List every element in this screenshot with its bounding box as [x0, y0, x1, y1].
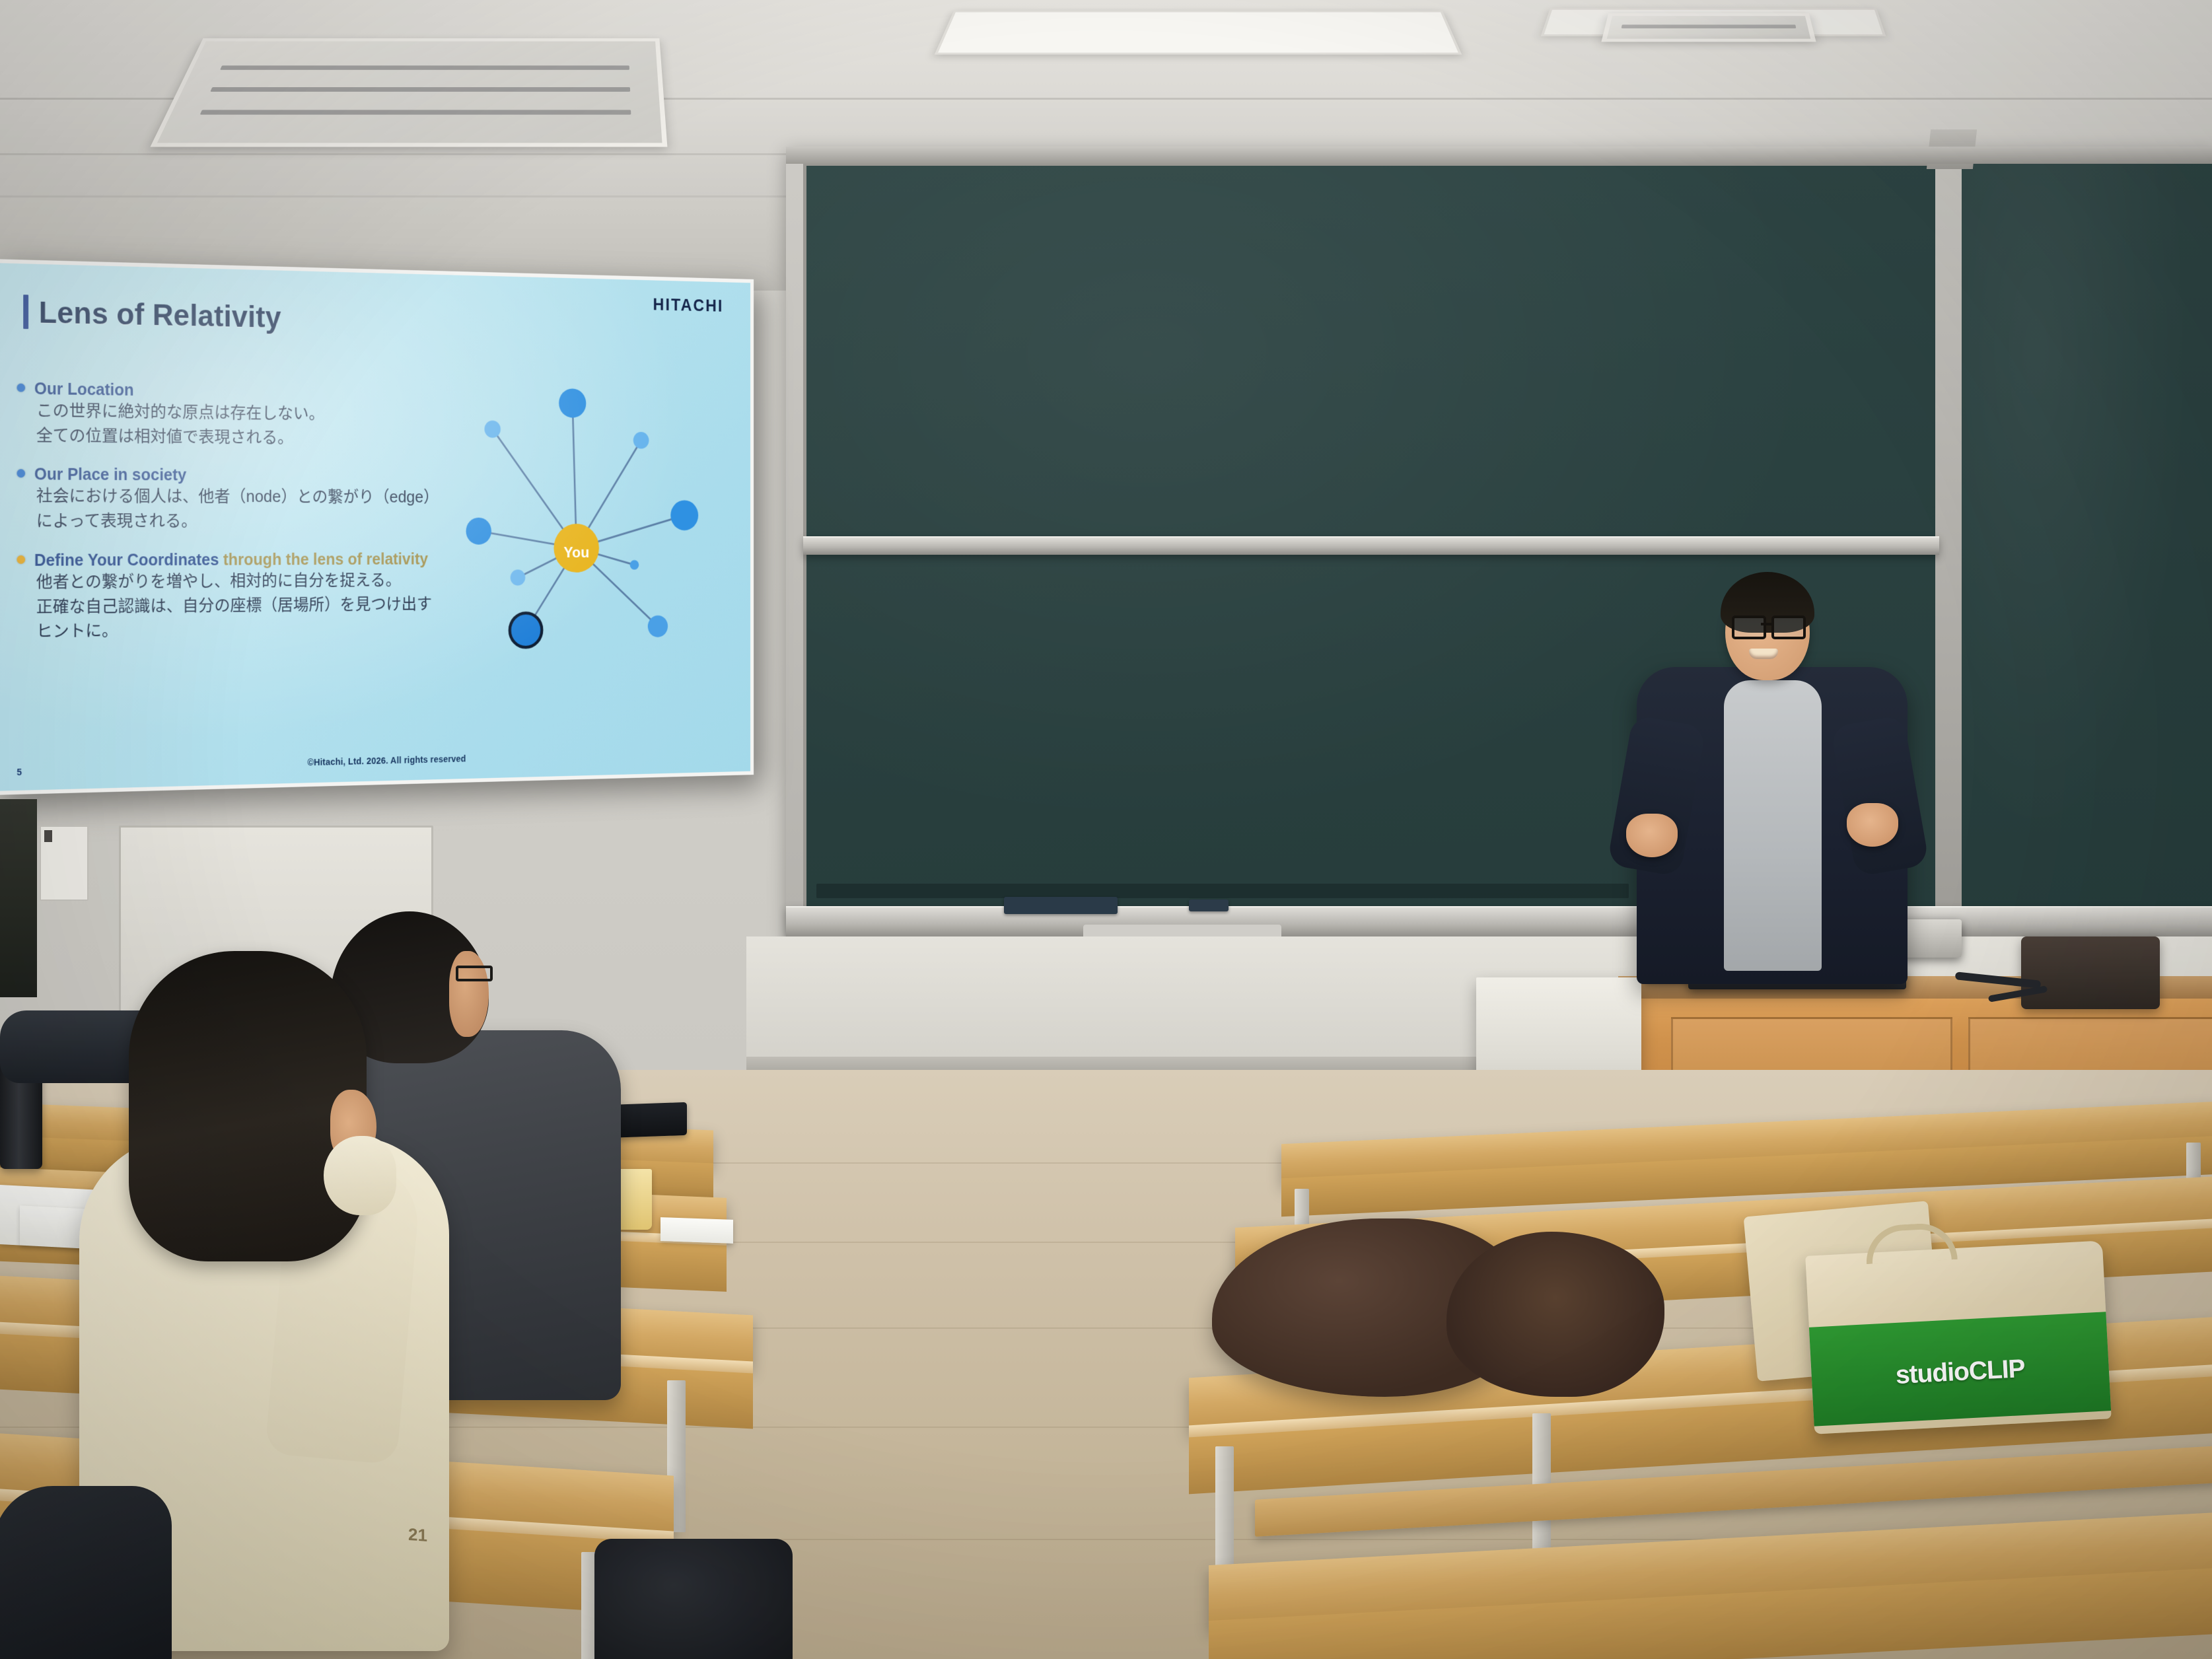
bullet-heading: Define Your Coordinates through the lens…	[34, 550, 428, 570]
glasses-icon	[1732, 616, 1806, 635]
blackboard-mid-rail	[803, 536, 1939, 555]
bullet-item: Define Your Coordinates through the lens…	[17, 550, 445, 645]
blackboard-top-rail	[786, 147, 2212, 164]
wall-switch-box[interactable]	[40, 826, 89, 901]
bullet-body-line: によって表現される。	[36, 509, 445, 534]
bullet-dot-icon	[17, 384, 25, 392]
node-inner-right	[630, 560, 639, 570]
bullet-body-line: 正確な自己認識は、自分の座標（居場所）を見つけ出すヒントに。	[36, 592, 445, 645]
node-lower-left	[511, 569, 526, 585]
slide-title: Lens of Relativity	[39, 295, 281, 335]
bullet-item: Our Location この世界に絶対的な原点は存在しない。 全ての位置は相対…	[17, 380, 445, 452]
node-top	[559, 388, 586, 418]
network-diagram-svg: You	[456, 370, 727, 660]
bullet-body-line: 全ての位置は相対値で表現される。	[36, 423, 445, 451]
bullet-body-line: この世界に絶対的な原点は存在しない。	[36, 399, 445, 428]
presenter-right-hand	[1847, 803, 1898, 847]
air-conditioner-vent	[150, 38, 667, 147]
node-upper-left	[484, 421, 500, 438]
blackboard-divider	[1935, 151, 1962, 930]
attendee-back-glasses-icon	[456, 966, 493, 981]
bullet-dot-icon	[17, 555, 25, 564]
slide-copyright: ©Hitachi, Ltd. 2026. All rights reserved	[0, 747, 750, 775]
presenter-shirt	[1724, 680, 1822, 971]
air-vent-secondary	[1601, 13, 1816, 42]
node-upper-right	[633, 432, 649, 449]
slide-bullet-list: Our Location この世界に絶対的な原点は存在しない。 全ての位置は相対…	[17, 380, 445, 662]
chalkboard-eraser	[1004, 897, 1118, 914]
network-diagram: You	[456, 370, 727, 660]
node-right	[670, 500, 698, 530]
chalk-tray	[786, 906, 2212, 938]
backpack	[594, 1539, 793, 1659]
chalk-piece	[1189, 900, 1229, 911]
lecture-hall-photo: HITACHI Lens of Relativity Our Location …	[0, 0, 2212, 1659]
presenter-chair	[2021, 936, 2160, 1009]
blackboard-right-panel	[1955, 157, 2212, 930]
desk-number-decal: 21	[408, 1524, 448, 1553]
bullet-heading: Our Location	[34, 380, 134, 400]
bullet-body-line: 社会における個人は、他者（node）との繋がり（edge）	[36, 485, 445, 511]
projection-screen: HITACHI Lens of Relativity Our Location …	[0, 259, 754, 795]
attendee-partial-foreground	[0, 1486, 172, 1659]
node-bottom-right	[648, 616, 668, 637]
attendee-front-hand	[324, 1136, 396, 1215]
attendee-back-ear	[449, 951, 489, 1037]
slide-title-group: Lens of Relativity	[23, 294, 281, 335]
shopping-bag: studioCLIP	[1805, 1240, 2112, 1434]
hitachi-logo: HITACHI	[653, 295, 724, 316]
presenter-left-hand	[1626, 814, 1678, 857]
bullet-body-line: 他者との繋がりを増やし、相対的に自分を捉える。	[36, 569, 445, 595]
bullet-dot-icon	[17, 470, 25, 478]
node-left	[466, 518, 491, 545]
node-center-label: You	[563, 544, 589, 561]
snack-wrapper	[660, 1217, 733, 1244]
attendee-front-hair	[129, 951, 367, 1261]
network-edges	[479, 402, 685, 631]
brown-coat-secondary	[1446, 1232, 1664, 1397]
wall-dark-edge	[0, 799, 37, 997]
node-bottom-left	[510, 613, 542, 647]
bullet-heading: Our Place in society	[34, 466, 186, 485]
title-accent-bar	[23, 295, 28, 329]
network-nodes	[466, 387, 698, 648]
presentation-slide: HITACHI Lens of Relativity Our Location …	[0, 263, 750, 791]
ceiling-light-panel	[935, 11, 1462, 55]
bullet-item: Our Place in society 社会における個人は、他者（node）と…	[17, 466, 445, 534]
blackboard-lower-slot	[816, 884, 1629, 898]
presenter-mouth	[1749, 649, 1778, 659]
